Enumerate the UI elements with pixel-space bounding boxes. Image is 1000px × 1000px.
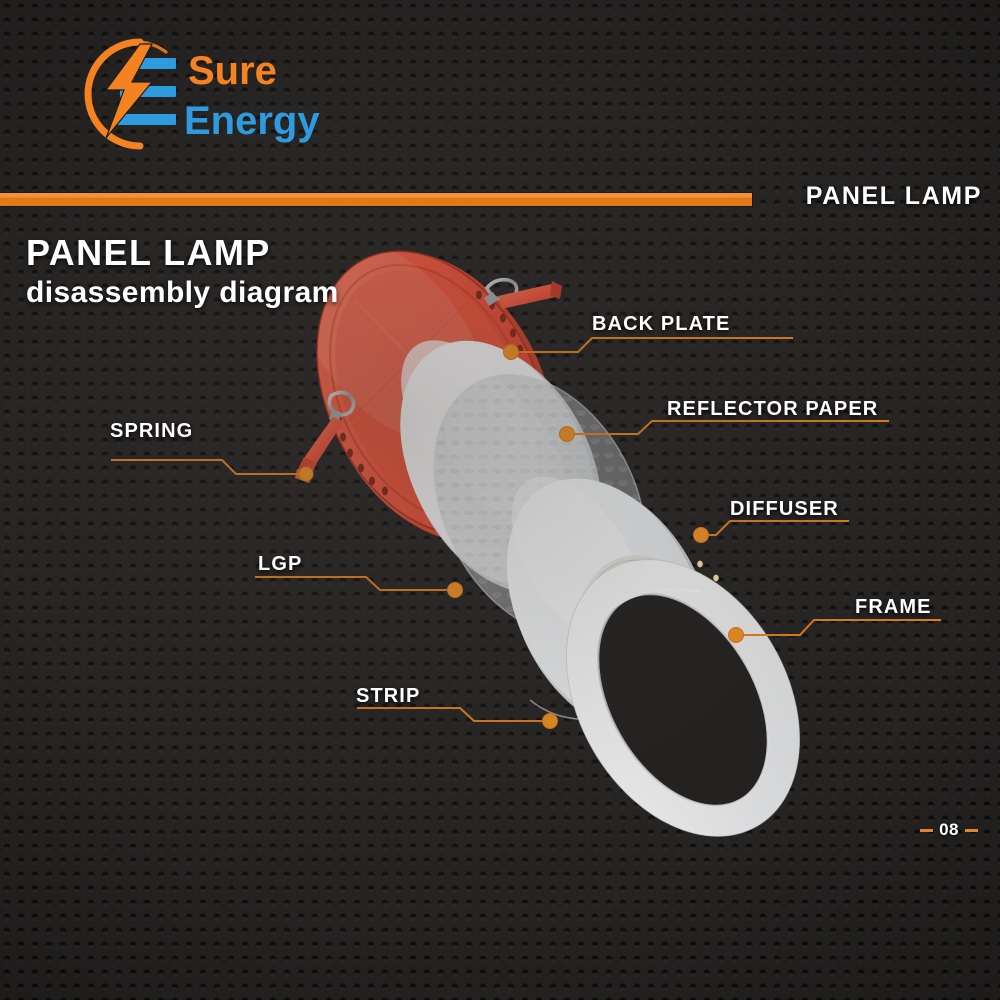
page-number: 08 — [920, 820, 978, 840]
page-number-dash-left — [920, 829, 933, 832]
callout-label-lgp: LGP — [258, 553, 302, 576]
page-root: Sure Energy PANEL LAMP PANEL LAMP disass… — [0, 0, 1000, 1000]
callout-label-reflector-paper: REFLECTOR PAPER — [667, 398, 878, 421]
logo-word-sure: Sure — [188, 49, 277, 93]
header-title: PANEL LAMP — [806, 182, 982, 211]
logo-word-energy: Energy — [184, 99, 320, 143]
callout-label-strip: STRIP — [356, 685, 420, 708]
page-title-block: PANEL LAMP disassembly diagram — [26, 233, 339, 311]
header-accent-rule — [0, 193, 752, 206]
callout-label-diffuser: DIFFUSER — [730, 498, 839, 521]
page-subtitle: disassembly diagram — [26, 275, 339, 311]
page-number-dash-right — [965, 829, 978, 832]
page-title: PANEL LAMP — [26, 233, 339, 273]
page-number-value: 08 — [939, 820, 959, 840]
brand-logo: Sure Energy — [48, 28, 348, 163]
callout-label-spring: SPRING — [110, 420, 193, 443]
callout-label-back-plate: BACK PLATE — [592, 313, 730, 336]
callout-label-frame: FRAME — [855, 596, 932, 619]
